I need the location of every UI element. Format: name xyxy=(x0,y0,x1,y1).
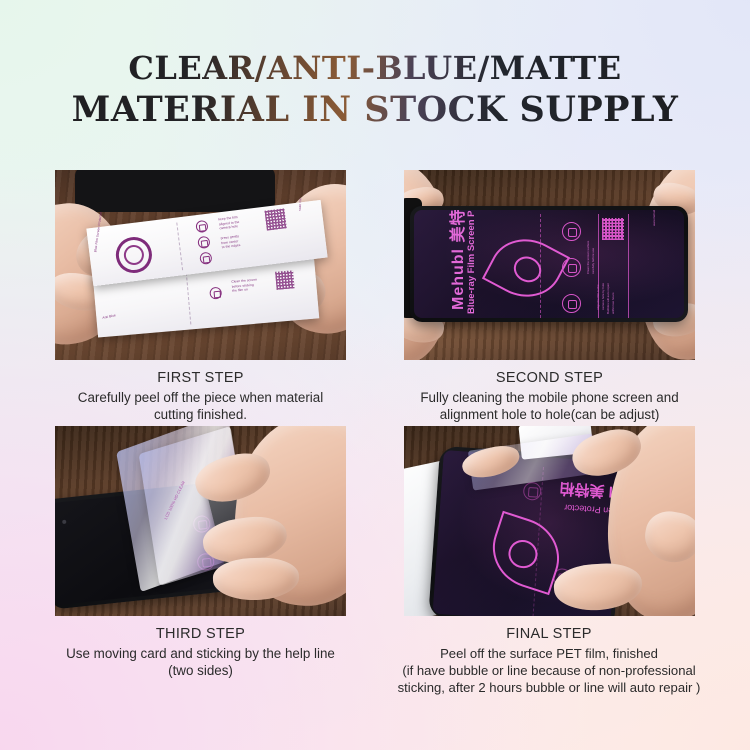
step-photo-first: Clean the screenbefore stickingthe film … xyxy=(55,170,346,360)
steps-row-2: LCD 100% HD CLEAR THIRD STEP Use moving … xyxy=(55,426,695,696)
phone-screen: Mehubl 美特柏® Blue-ray Film Screen Protect… xyxy=(414,210,684,318)
title-line-2: MATERIAL IN STOCK SUPPLY xyxy=(0,92,750,127)
screen-column-line-2 xyxy=(628,214,629,318)
step-title-third: THIRD STEP xyxy=(55,625,346,645)
instruction-icon-1 xyxy=(562,222,581,241)
screen-column-line-1 xyxy=(598,214,599,318)
brand-tagline: Blue-ray Film Screen Protector xyxy=(466,210,477,314)
phone-device: Mehubl 美特柏® Blue-ray Film Screen Protect… xyxy=(410,206,688,322)
brand-latin: Mehubl xyxy=(450,248,467,310)
step-body-final: Peel off the surface PET film, finished … xyxy=(384,645,714,697)
steps-grid: Clean the screenbefore stickingthe film … xyxy=(55,170,695,696)
title-line-1: CLEAR/ANTI-BLUE/MATTE xyxy=(0,52,750,84)
film-icon-lower xyxy=(210,287,223,300)
brand-cjk-4: 美特柏 xyxy=(559,479,605,499)
film-icon-b xyxy=(197,236,210,249)
step-photo-final: Mehubl 美特柏 Blue-ray Film Screen Protecto… xyxy=(404,426,695,616)
film-icon-a xyxy=(195,220,208,233)
instruction-icon-2 xyxy=(562,258,581,277)
step-body-third: Use moving card and sticking by the help… xyxy=(55,645,346,680)
step-caption-final: FINAL STEP Peel off the surface PET film… xyxy=(384,616,714,696)
film-qr-lower xyxy=(275,270,295,290)
step-title-second: SECOND STEP xyxy=(404,369,695,389)
screen-qr-code xyxy=(602,218,624,240)
steps-row-1: Clean the screenbefore stickingthe film … xyxy=(55,170,695,424)
step-photo-third: LCD 100% HD CLEAR xyxy=(55,426,346,616)
step-card-third: LCD 100% HD CLEAR THIRD STEP Use moving … xyxy=(55,426,346,696)
step-title-final: FINAL STEP xyxy=(384,625,714,645)
brand-cjk-text: 美特柏 xyxy=(450,210,467,243)
dark-phone-backdrop xyxy=(75,170,275,212)
step-caption-second: SECOND STEP Fully cleaning the mobile ph… xyxy=(404,360,695,424)
step-caption-first: FIRST STEP Carefully peel off the piece … xyxy=(55,360,346,424)
step-card-second: Mehubl 美特柏® Blue-ray Film Screen Protect… xyxy=(404,170,695,424)
page-title: CLEAR/ANTI-BLUE/MATTE MATERIAL IN STOCK … xyxy=(0,52,750,127)
alignment-dash-line xyxy=(540,214,541,318)
camera-hole xyxy=(62,520,66,524)
step-body-second: Fully cleaning the mobile phone screen a… xyxy=(404,389,695,424)
brand-logo-ring xyxy=(111,232,158,279)
step-caption-third: THIRD STEP Use moving card and sticking … xyxy=(55,616,346,680)
step-photo-second: Mehubl 美特柏® Blue-ray Film Screen Protect… xyxy=(404,170,695,360)
step-card-first: Clean the screenbefore stickingthe film … xyxy=(55,170,346,424)
film-qr-upper xyxy=(265,208,287,230)
poster-root: CLEAR/ANTI-BLUE/MATTE MATERIAL IN STOCK … xyxy=(0,0,750,750)
step-title-first: FIRST STEP xyxy=(55,369,346,389)
instruction-icon-3 xyxy=(562,294,581,313)
step-card-final: Mehubl 美特柏 Blue-ray Film Screen Protecto… xyxy=(404,426,695,696)
step-body-first: Carefully peel off the piece when materi… xyxy=(55,389,346,424)
brand-name-cjk: Mehubl 美特柏® xyxy=(444,210,468,310)
film-icon-c xyxy=(199,252,212,265)
